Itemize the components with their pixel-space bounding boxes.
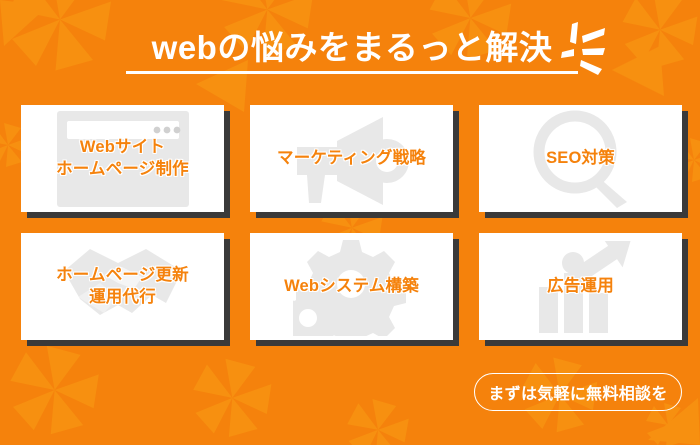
banner-header: webの悩みをまるっと解決 bbox=[0, 0, 700, 100]
page-title: webの悩みをまるっと解決 bbox=[126, 28, 578, 68]
service-card-label: マーケティング戦略 bbox=[277, 148, 426, 170]
sparkle-burst-icon bbox=[558, 22, 608, 84]
service-card-label: SEO対策 bbox=[546, 148, 615, 170]
free-consultation-cta-button[interactable]: まずは気軽に無料相談を bbox=[474, 373, 682, 411]
service-card-grid: Webサイト ホームページ制作 マーケティング戦略 SEO対策 bbox=[21, 105, 682, 345]
service-card-label: 広告運用 bbox=[547, 276, 614, 298]
service-card-label: Webサイト ホームページ制作 bbox=[56, 137, 189, 181]
service-card-label: ホームページ更新 運用代行 bbox=[56, 265, 189, 309]
title-wrap: webの悩みをまるっと解決 bbox=[126, 28, 578, 68]
cta-label: まずは気軽に無料相談を bbox=[488, 380, 667, 404]
service-card-ad-operations[interactable]: 広告運用 bbox=[479, 233, 682, 340]
service-card-label: Webシステム構築 bbox=[284, 276, 419, 298]
service-card-homepage-update[interactable]: ホームページ更新 運用代行 bbox=[21, 233, 224, 340]
promo-banner: webの悩みをまるっと解決 Webサイト ホームページ制作 bbox=[0, 0, 700, 445]
service-card-marketing-strategy[interactable]: マーケティング戦略 bbox=[250, 105, 453, 212]
service-card-website-production[interactable]: Webサイト ホームページ制作 bbox=[21, 105, 224, 212]
title-underline bbox=[126, 71, 578, 74]
service-card-web-system-build[interactable]: Webシステム構築 bbox=[250, 233, 453, 340]
service-card-seo-measures[interactable]: SEO対策 bbox=[479, 105, 682, 212]
